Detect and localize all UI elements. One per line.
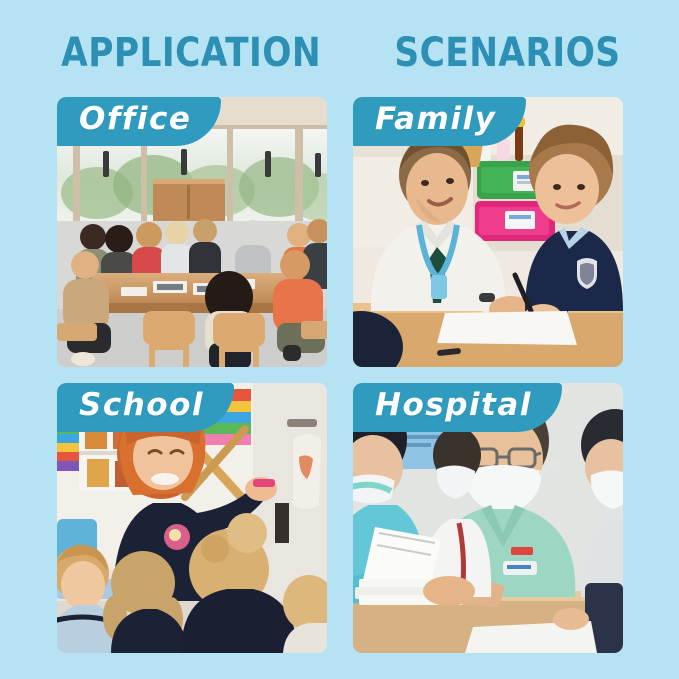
- badge-label-family: Family: [375, 104, 496, 135]
- badge-hospital: Hospital: [353, 383, 562, 432]
- scenario-card-office[interactable]: Office: [57, 97, 327, 367]
- scenario-card-hospital[interactable]: Hospital: [353, 383, 623, 653]
- page-title: APPLICATIONSCENARIOS: [0, 30, 679, 76]
- scenario-grid: Office: [57, 97, 623, 646]
- badge-label-school: School: [79, 390, 204, 421]
- badge-label-hospital: Hospital: [375, 390, 532, 421]
- scenario-card-school[interactable]: School: [57, 383, 327, 653]
- badge-family: Family: [353, 97, 526, 146]
- page-title-word-1: APPLICATION: [61, 30, 321, 76]
- badge-school: School: [57, 383, 234, 432]
- badge-label-office: Office: [79, 104, 191, 135]
- page-title-word-2: SCENARIOS: [395, 30, 621, 76]
- application-scenarios-poster: APPLICATIONSCENARIOS: [0, 0, 679, 679]
- scenario-card-family[interactable]: Family: [353, 97, 623, 367]
- badge-office: Office: [57, 97, 221, 146]
